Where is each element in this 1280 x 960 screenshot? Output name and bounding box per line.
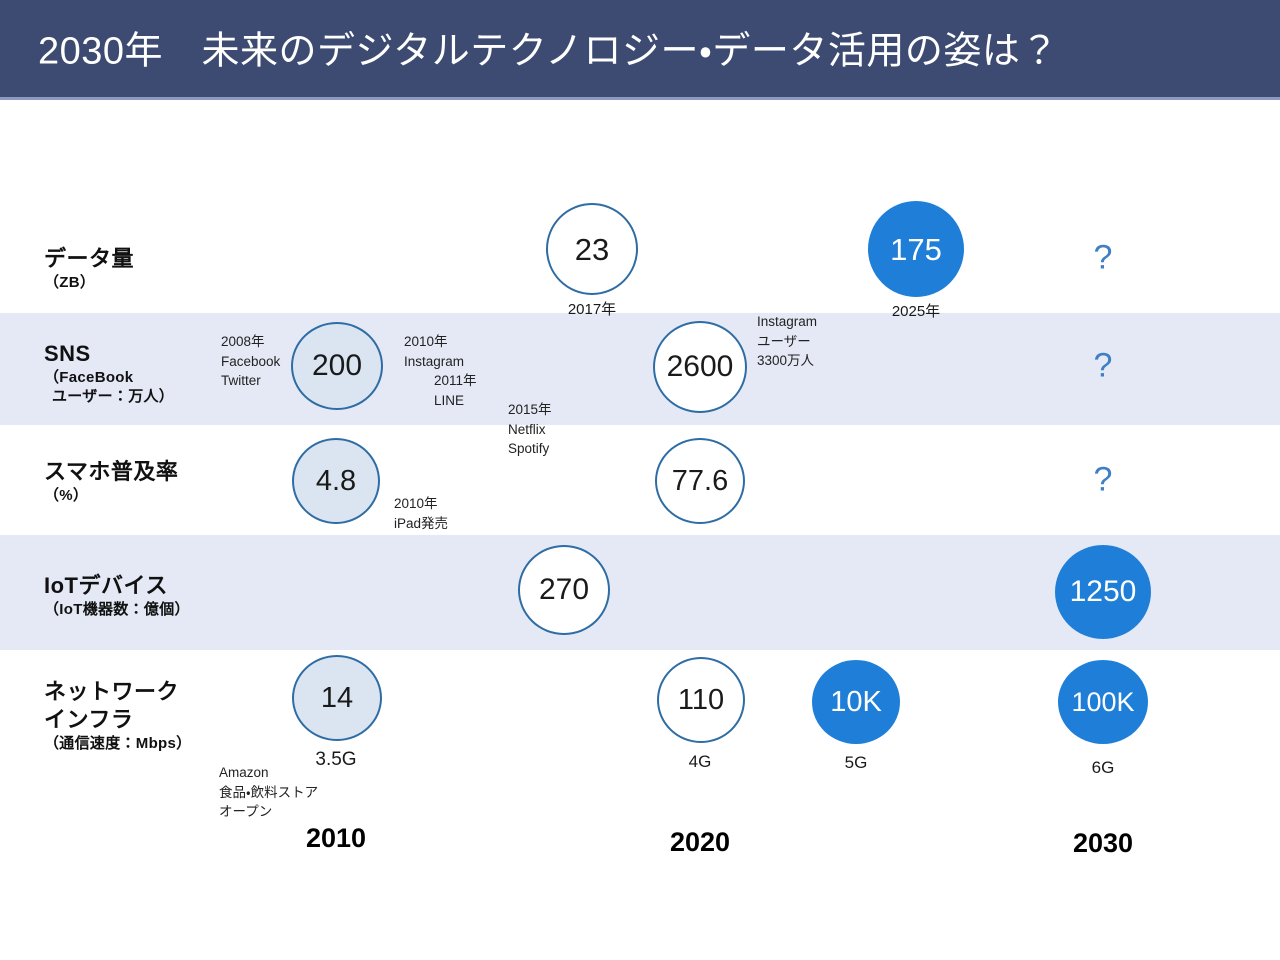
note-line: Instagram	[404, 352, 477, 372]
question-mark-smartphone: ?	[1094, 461, 1113, 500]
bubble-smartphone-2020[interactable]: 77.6	[655, 438, 745, 524]
bubble-sns-2010[interactable]: 200	[291, 322, 383, 410]
year-axis-label-2010: 2010	[306, 823, 366, 854]
bubble-sns-2020[interactable]: 2600	[653, 321, 747, 413]
row-label-data-volume-unit: （ZB）	[44, 273, 134, 292]
note-amazon-store: Amazon 食品・飲料ストア オープン	[219, 763, 318, 822]
row-label-data-volume: データ量 （ZB）	[44, 245, 134, 292]
row-label-sns-main: SNS	[44, 340, 174, 368]
bubble-caption-network-3-5g: 3.5G	[315, 749, 356, 771]
bubble-network-6g[interactable]: 100K	[1058, 660, 1148, 744]
bubble-value: 270	[539, 575, 589, 605]
bubble-value: 200	[312, 351, 362, 381]
row-label-smartphone-main: スマホ普及率	[44, 458, 178, 486]
row-label-iot-unit: （IoT機器数：億個）	[44, 600, 190, 619]
row-band-sns	[0, 313, 1280, 425]
row-label-network: ネットワーク インフラ （通信速度：Mbps）	[44, 678, 191, 754]
bubble-value: 10K	[830, 688, 882, 717]
note-line: ユーザー	[757, 332, 817, 352]
note-line: iPad発売	[394, 514, 448, 534]
note-line: Amazon	[219, 763, 318, 783]
bubble-value: 1250	[1070, 577, 1137, 607]
note-netflix-spotify: 2015年 Netflix Spotify	[508, 400, 552, 459]
bubble-value: 23	[575, 234, 609, 265]
row-label-smartphone: スマホ普及率 （%）	[44, 458, 178, 505]
bubble-caption-data-volume-2025: 2025年	[892, 300, 940, 321]
note-line: 2015年	[508, 400, 552, 420]
note-line: LINE	[404, 391, 477, 411]
page-title: 2030年 未来のデジタルテクノロジー・データ活用の姿は？	[38, 19, 1059, 74]
row-label-iot-main: IoTデバイス	[44, 572, 190, 600]
bubble-caption-network-4g: 4G	[689, 752, 712, 772]
note-line: Spotify	[508, 439, 552, 459]
bubble-value: 110	[678, 686, 724, 715]
bubble-value: 2600	[667, 352, 734, 382]
note-line: Netflix	[508, 420, 552, 440]
note-line: 2010年	[404, 332, 477, 352]
bubble-value: 100K	[1071, 689, 1134, 716]
bubble-network-4g[interactable]: 110	[657, 657, 745, 743]
row-label-smartphone-unit: （%）	[44, 486, 178, 505]
bubble-value: 175	[890, 234, 942, 265]
row-label-sns-unit-1: （FaceBook	[44, 368, 174, 387]
note-line: 3300万人	[757, 351, 817, 371]
row-label-iot: IoTデバイス （IoT機器数：億個）	[44, 572, 190, 619]
row-label-data-volume-main: データ量	[44, 245, 134, 273]
question-mark-data-volume: ?	[1094, 239, 1113, 278]
bubble-caption-network-5g: 5G	[845, 753, 868, 773]
note-line: 2010年	[394, 494, 448, 514]
note-instagram-users: Instagram ユーザー 3300万人	[757, 312, 817, 371]
row-label-sns-unit-2: ユーザー：万人）	[44, 387, 174, 406]
note-line: 2011年	[404, 371, 477, 391]
bubble-caption-network-6g: 6G	[1092, 758, 1115, 778]
bubble-caption-data-volume-2017: 2017年	[568, 298, 616, 319]
bubble-smartphone-2010[interactable]: 4.8	[292, 438, 380, 524]
title-banner: 2030年 未来のデジタルテクノロジー・データ活用の姿は？	[0, 0, 1280, 100]
bubble-value: 77.6	[672, 467, 728, 496]
note-line: Twitter	[221, 371, 280, 391]
note-line: オープン	[219, 802, 318, 822]
note-line: 食品・飲料ストア	[219, 783, 318, 803]
note-instagram-line: 2010年 Instagram 2011年 LINE	[404, 332, 477, 410]
note-line: Instagram	[757, 312, 817, 332]
year-axis-label-2020: 2020	[670, 827, 730, 858]
year-axis-label-2030: 2030	[1073, 828, 1133, 859]
bubble-data-volume-2017[interactable]: 23	[546, 203, 638, 295]
bubble-value: 14	[321, 684, 353, 713]
row-label-network-main-1: ネットワーク	[44, 678, 191, 706]
bubble-iot-2030[interactable]: 1250	[1055, 545, 1151, 639]
bubble-data-volume-2025[interactable]: 175	[868, 201, 964, 297]
bubble-iot-2020[interactable]: 270	[518, 545, 610, 635]
row-label-sns: SNS （FaceBook ユーザー：万人）	[44, 340, 174, 407]
note-line: Facebook	[221, 352, 280, 372]
row-label-network-main-2: インフラ	[44, 706, 191, 734]
bubble-value: 4.8	[316, 467, 356, 496]
bubble-network-3-5g[interactable]: 14	[292, 655, 382, 741]
note-facebook-twitter: 2008年 Facebook Twitter	[221, 332, 280, 391]
bubble-network-5g[interactable]: 10K	[812, 660, 900, 744]
question-mark-sns: ?	[1094, 347, 1113, 386]
row-label-network-unit: （通信速度：Mbps）	[44, 734, 191, 753]
note-ipad-launch: 2010年 iPad発売	[394, 494, 448, 533]
note-line: 2008年	[221, 332, 280, 352]
